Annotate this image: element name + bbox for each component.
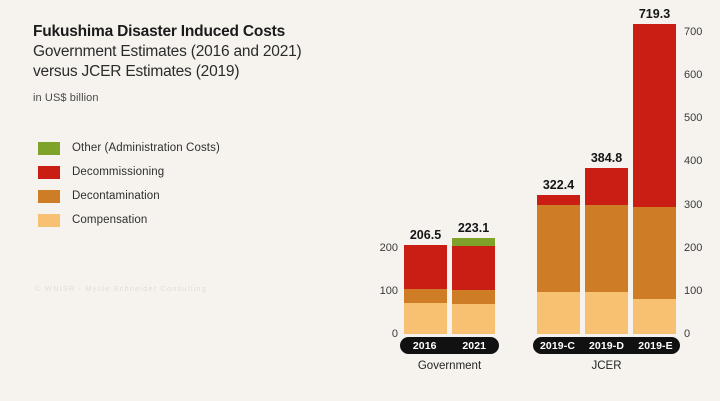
bar-segment-compensation: [537, 292, 580, 334]
y-axis-tick-right: 0: [684, 328, 718, 340]
category-label-2021[interactable]: 2021: [450, 340, 500, 352]
bar-segment-decontamination: [537, 205, 580, 291]
bar-segment-compensation: [633, 299, 676, 334]
bar-value-label: 719.3: [639, 7, 670, 21]
bar-value-label: 322.4: [543, 178, 574, 192]
bar-segment-compensation: [404, 303, 447, 334]
bar-value-label: 384.8: [591, 151, 622, 165]
category-pill-jcer: 2019-C2019-D2019-E: [533, 337, 680, 354]
bar-2019-D[interactable]: [585, 168, 628, 334]
bar-segment-decommissioning: [452, 246, 495, 290]
category-label-2016[interactable]: 2016: [400, 340, 450, 352]
bar-segment-decontamination: [452, 290, 495, 304]
bar-segment-compensation: [452, 304, 495, 334]
bar-segment-decommissioning: [404, 245, 447, 289]
bar-value-label: 223.1: [458, 221, 489, 235]
chart-canvas: Fukushima Disaster Induced Costs Governm…: [0, 0, 720, 401]
y-axis-tick-right: 500: [684, 112, 718, 124]
y-axis-tick-right: 300: [684, 199, 718, 211]
plot-area: 20010007006005004003002001000206.5223.13…: [0, 0, 720, 401]
y-axis-tick-left: 100: [364, 285, 398, 297]
category-pill-government: 20162021: [400, 337, 499, 354]
category-label-2019-D[interactable]: 2019-D: [582, 340, 631, 352]
group-label-government: Government: [418, 360, 481, 372]
bar-value-label: 206.5: [410, 228, 441, 242]
bar-2019-E[interactable]: [633, 24, 676, 334]
y-axis-tick-right: 100: [684, 285, 718, 297]
y-axis-tick-left: 0: [364, 328, 398, 340]
y-axis-tick-right: 600: [684, 69, 718, 81]
bar-segment-decommissioning: [633, 24, 676, 207]
bar-segment-other: [452, 238, 495, 246]
bar-segment-decontamination: [633, 207, 676, 300]
y-axis-tick-right: 700: [684, 26, 718, 38]
bar-segment-decommissioning: [537, 195, 580, 206]
group-label-jcer: JCER: [591, 360, 621, 372]
bar-segment-decontamination: [404, 289, 447, 303]
bar-segment-decommissioning: [585, 168, 628, 205]
y-axis-tick-left: 200: [364, 242, 398, 254]
category-label-2019-E[interactable]: 2019-E: [631, 340, 680, 352]
bar-segment-decontamination: [585, 205, 628, 291]
y-axis-tick-right: 400: [684, 155, 718, 167]
category-label-2019-C[interactable]: 2019-C: [533, 340, 582, 352]
bar-2019-C[interactable]: [537, 195, 580, 334]
bar-2016[interactable]: [404, 245, 447, 334]
bar-2021[interactable]: [452, 238, 495, 334]
bar-segment-compensation: [585, 292, 628, 334]
y-axis-tick-right: 200: [684, 242, 718, 254]
